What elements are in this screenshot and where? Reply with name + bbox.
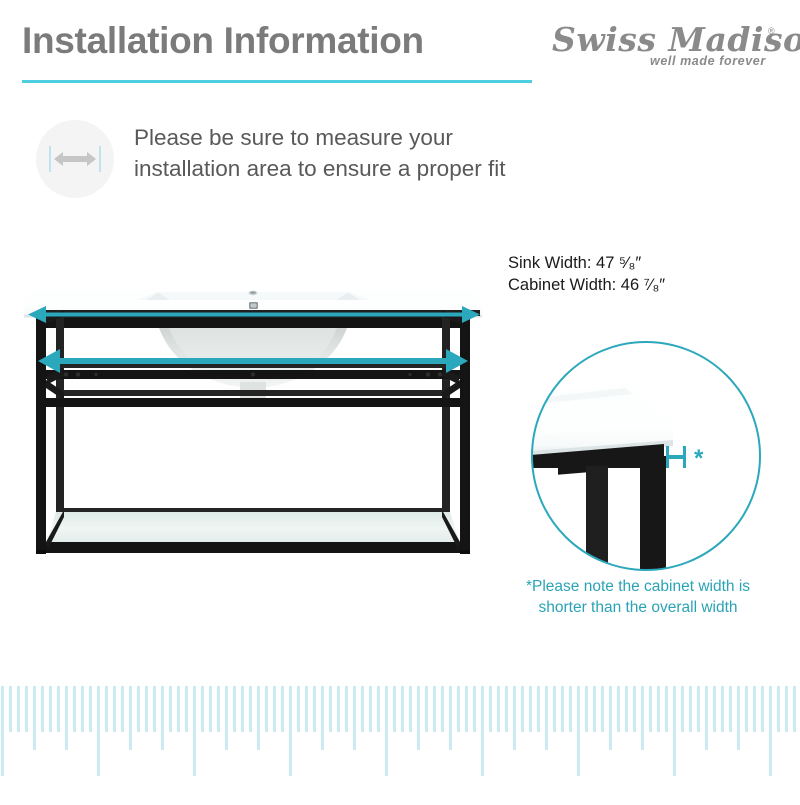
- ruler-tick: [481, 686, 484, 776]
- page-title: Installation Information: [22, 18, 424, 64]
- ruler-tick: [713, 686, 716, 732]
- ruler-tick: [577, 686, 580, 776]
- vanity-drawing: [18, 272, 488, 568]
- ruler-tick: [473, 686, 476, 732]
- brand-logo: Swiss Madison ® well made forever: [552, 20, 780, 76]
- ruler-tick: [401, 686, 404, 732]
- ruler-tick: [633, 686, 636, 732]
- ruler-tick: [561, 686, 564, 732]
- ruler-tick: [97, 686, 100, 776]
- ruler-tick: [433, 686, 436, 732]
- ruler-tick: [705, 686, 708, 750]
- ruler-tick: [745, 686, 748, 732]
- ruler-tick: [33, 686, 36, 750]
- ruler-tick: [673, 686, 676, 776]
- ruler-tick: [585, 686, 588, 732]
- ruler-tick: [289, 686, 292, 776]
- ruler-tick: [129, 686, 132, 750]
- vanity-illustration: [18, 272, 488, 568]
- instruction-line-2: installation area to ensure a proper fit: [134, 153, 604, 184]
- ruler-tick: [417, 686, 420, 750]
- detail-contents: [528, 384, 686, 574]
- ruler-tick: [65, 686, 68, 750]
- ruler-tick: [649, 686, 652, 732]
- ruler-tick: [89, 686, 92, 732]
- ruler-tick: [513, 686, 516, 750]
- ruler-tick: [617, 686, 620, 732]
- ruler-tick: [209, 686, 212, 732]
- ruler-tick: [721, 686, 724, 732]
- ruler-tick: [497, 686, 500, 732]
- ruler-tick: [81, 686, 84, 732]
- ruler-tick: [313, 686, 316, 732]
- ruler-tick: [121, 686, 124, 732]
- ruler-tick: [369, 686, 372, 732]
- ruler-tick: [345, 686, 348, 732]
- ruler-tick: [233, 686, 236, 732]
- installation-information-page: Installation Information Swiss Madison ®…: [0, 0, 800, 800]
- overhang-detail-callout: *: [528, 338, 764, 574]
- ruler-tick: [297, 686, 300, 732]
- ruler-tick: [217, 686, 220, 732]
- ruler-tick: [777, 686, 780, 732]
- ruler-tick: [193, 686, 196, 776]
- overhang-asterisk-marker: *: [694, 445, 704, 472]
- ruler-tick: [225, 686, 228, 750]
- ruler-tick: [201, 686, 204, 732]
- ruler-tick: [793, 686, 796, 732]
- ruler-tick: [657, 686, 660, 732]
- ruler-tick: [329, 686, 332, 732]
- ruler-tick: [393, 686, 396, 732]
- ruler-tick: [49, 686, 52, 732]
- ruler-tick: [385, 686, 388, 776]
- ruler-tick: [449, 686, 452, 750]
- ruler-tick: [457, 686, 460, 732]
- ruler-tick: [337, 686, 340, 732]
- ruler-tick: [9, 686, 12, 732]
- ruler-tick: [17, 686, 20, 732]
- ruler-tick: [729, 686, 732, 732]
- ruler-tick: [177, 686, 180, 732]
- ruler-tick: [769, 686, 772, 776]
- measure-width-icon: [36, 120, 114, 198]
- ruler-tick: [145, 686, 148, 732]
- footnote-line-1: *Please note the cabinet width is: [492, 576, 784, 597]
- ruler-tick: [521, 686, 524, 732]
- ruler-tick: [265, 686, 268, 732]
- ruler-tick: [545, 686, 548, 750]
- ruler-tick: [273, 686, 276, 732]
- ruler-tick: [601, 686, 604, 732]
- overhang-dimension-marker: [666, 446, 686, 468]
- ruler-tick: [169, 686, 172, 732]
- ruler-tick: [737, 686, 740, 750]
- instruction-text: Please be sure to measure your installat…: [134, 122, 604, 184]
- ruler-tick: [1, 686, 4, 776]
- ruler-tick: [361, 686, 364, 732]
- ruler-tick: [57, 686, 60, 732]
- ruler-tick: [137, 686, 140, 732]
- registered-trademark-icon: ®: [768, 26, 775, 36]
- ruler-tick: [609, 686, 612, 750]
- ruler-tick: [105, 686, 108, 732]
- ruler-tick: [689, 686, 692, 732]
- dimension-callout: Sink Width: 47 ⁵⁄₈″ Cabinet Width: 46 ⁷⁄…: [508, 252, 788, 296]
- footnote-line-2: shorter than the overall width: [492, 597, 784, 618]
- ruler-tick: [665, 686, 668, 732]
- ruler-tick: [641, 686, 644, 750]
- ruler-tick: [249, 686, 252, 732]
- ruler-tick: [537, 686, 540, 732]
- ruler-tick: [161, 686, 164, 750]
- instruction-row: Please be sure to measure your installat…: [36, 118, 596, 208]
- ruler-tick: [441, 686, 444, 732]
- ruler-tick: [281, 686, 284, 732]
- ruler-tick: [489, 686, 492, 732]
- cabinet-width-footnote: *Please note the cabinet width is shorte…: [492, 576, 784, 618]
- brand-tagline: well made forever: [650, 54, 766, 68]
- ruler-tick: [113, 686, 116, 732]
- cabinet-width-text: Cabinet Width: 46 ⁷⁄₈″: [508, 274, 788, 296]
- ruler-tick: [353, 686, 356, 750]
- ruler-tick: [681, 686, 684, 732]
- ruler-ticks: [0, 680, 800, 800]
- ruler-tick: [25, 686, 28, 732]
- ruler-tick: [505, 686, 508, 732]
- ruler-tick: [761, 686, 764, 732]
- ruler-tick: [465, 686, 468, 732]
- ruler-tick: [377, 686, 380, 732]
- ruler-tick: [153, 686, 156, 732]
- ruler-tick: [257, 686, 260, 750]
- ruler-tick: [73, 686, 76, 732]
- detail-circle-drawing: *: [528, 338, 764, 574]
- ruler-tick: [321, 686, 324, 750]
- ruler-tick: [41, 686, 44, 732]
- ruler-tick: [425, 686, 428, 732]
- ruler-tick: [753, 686, 756, 732]
- measure-icon-badge: [36, 120, 114, 198]
- ruler-tick: [305, 686, 308, 732]
- ruler-tick: [185, 686, 188, 732]
- ruler-graphic: [0, 680, 800, 800]
- instruction-line-1: Please be sure to measure your: [134, 122, 604, 153]
- ruler-tick: [569, 686, 572, 732]
- ruler-tick: [593, 686, 596, 732]
- sink-width-text: Sink Width: 47 ⁵⁄₈″: [508, 252, 788, 274]
- ruler-tick: [697, 686, 700, 732]
- ruler-tick: [785, 686, 788, 732]
- ruler-tick: [529, 686, 532, 732]
- ruler-tick: [241, 686, 244, 732]
- ruler-tick: [625, 686, 628, 732]
- ruler-tick: [409, 686, 412, 732]
- title-underline: [22, 80, 532, 83]
- ruler-tick: [553, 686, 556, 732]
